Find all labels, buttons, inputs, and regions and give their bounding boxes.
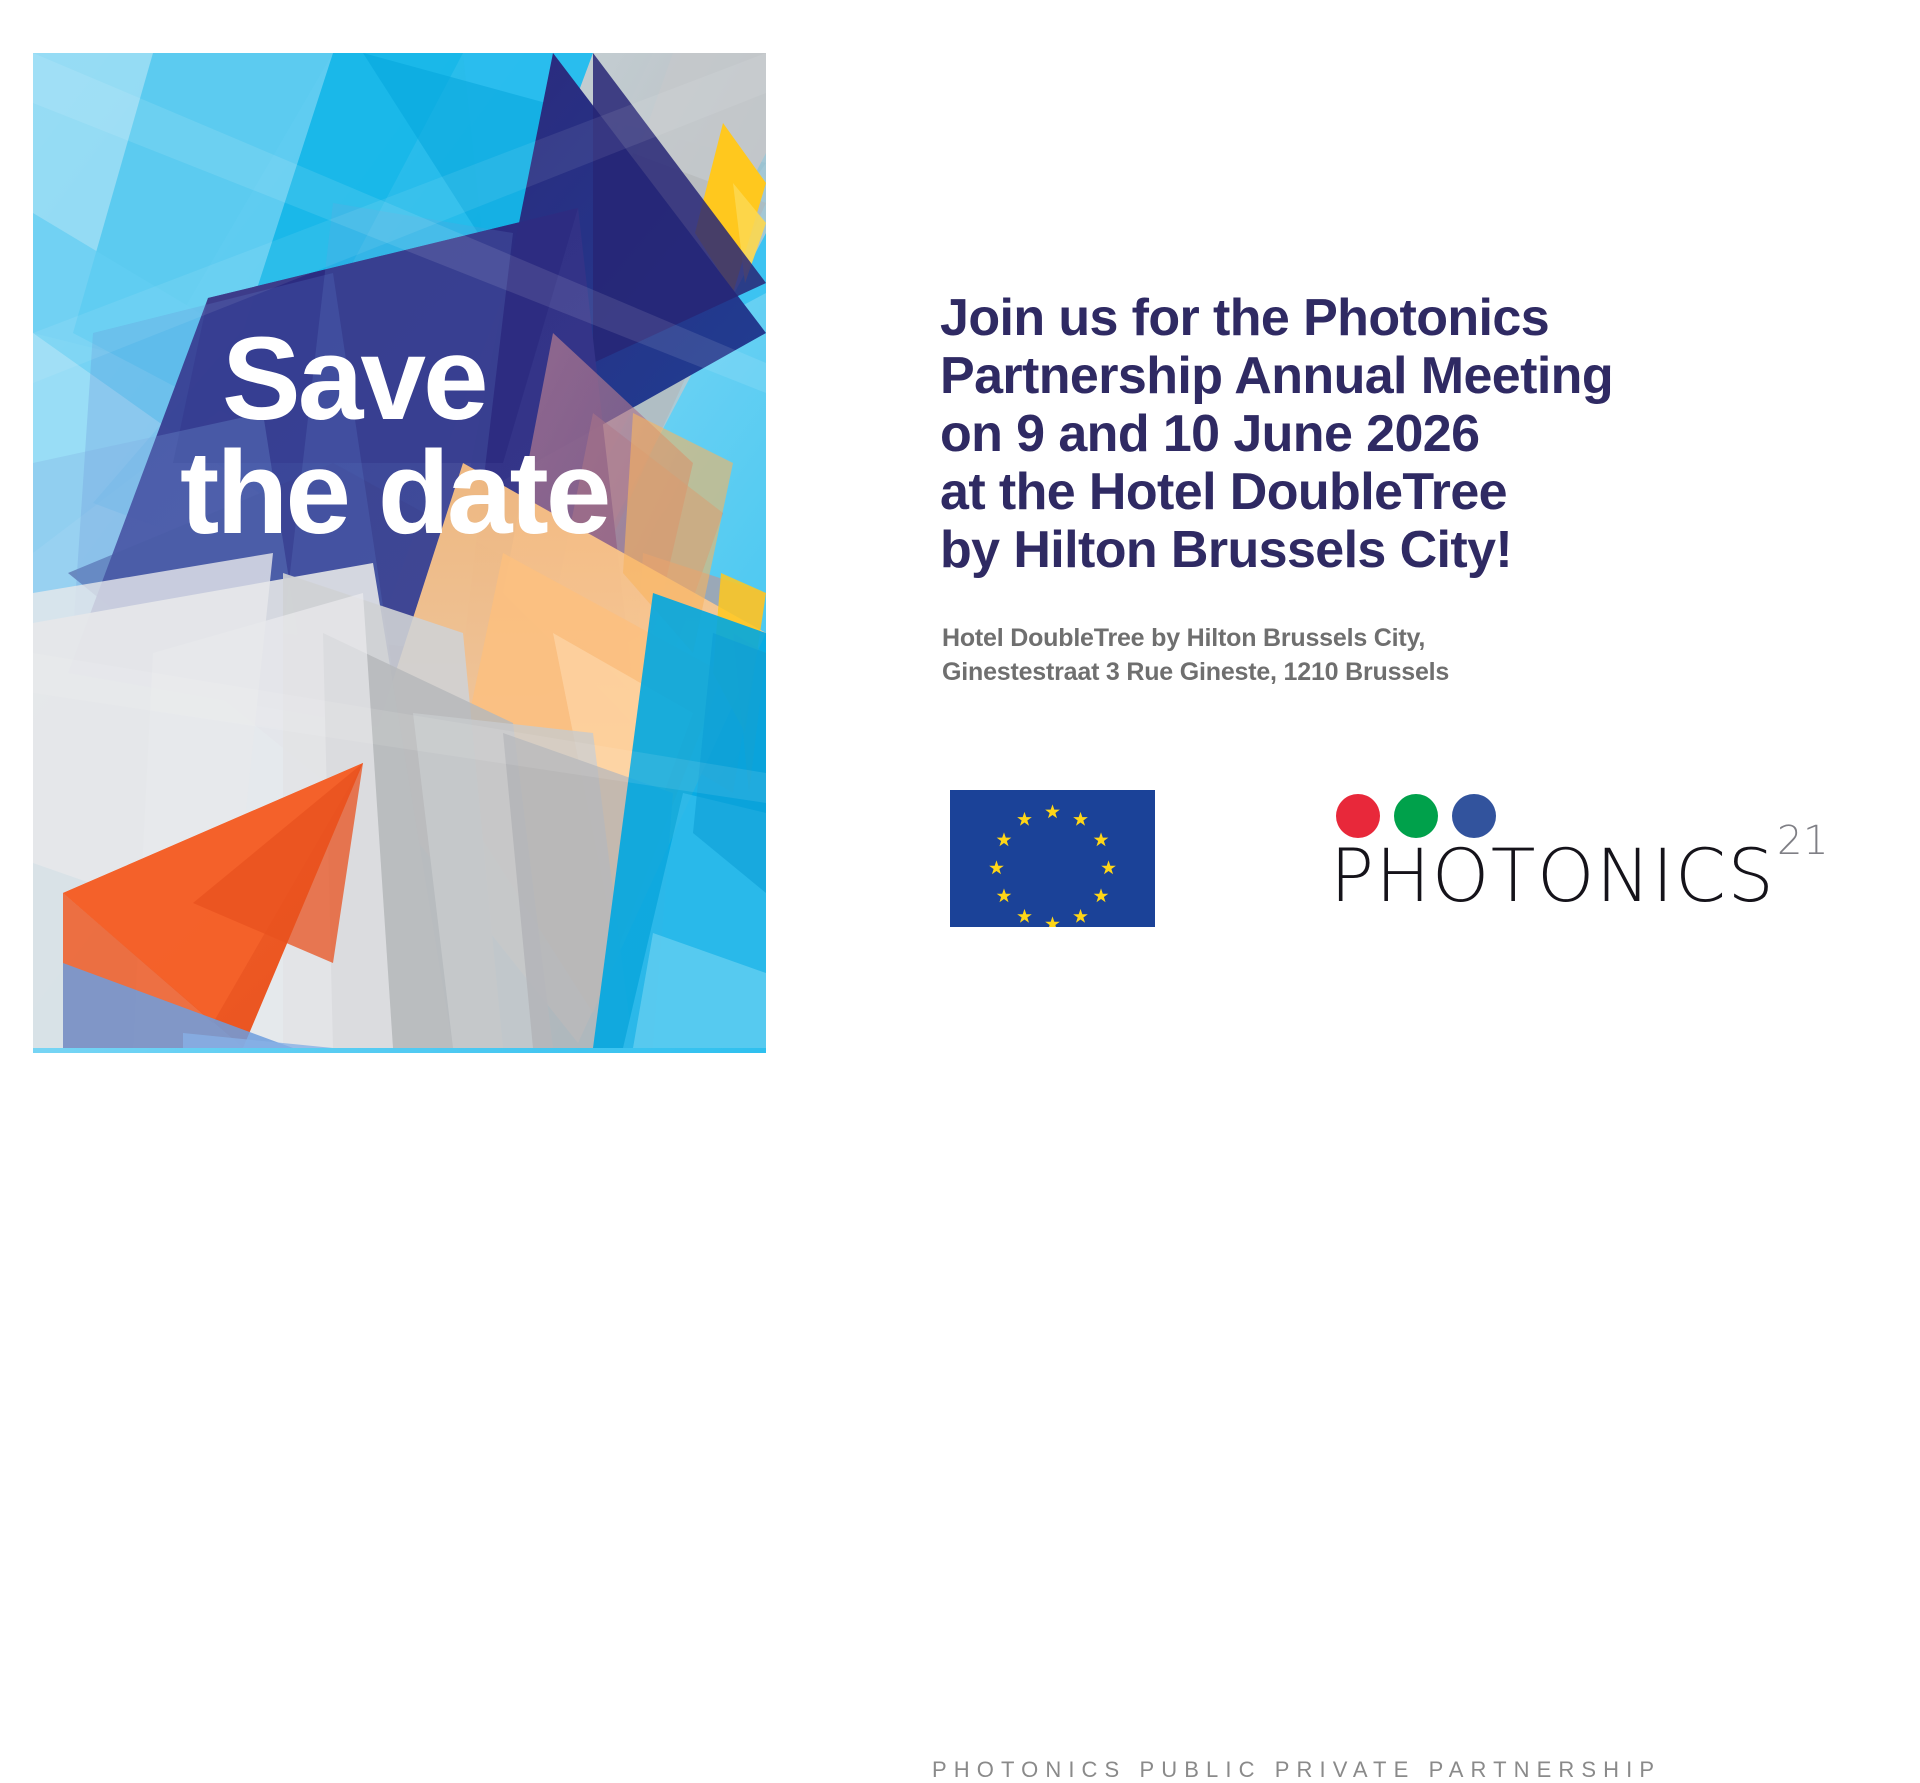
european-union-flag-icon bbox=[950, 790, 1155, 927]
photonics-wordmark: PHOTONICS bbox=[1330, 840, 1775, 913]
photonics-dot-red bbox=[1336, 794, 1380, 838]
headline-line-3: on 9 and 10 June 2026 bbox=[940, 406, 1700, 464]
venue-address: Hotel DoubleTree by Hilton Brussels City… bbox=[942, 622, 1449, 690]
event-headline: Join us for the Photonics Partnership An… bbox=[940, 290, 1700, 580]
partnership-tagline: PHOTONICS PUBLIC PRIVATE PARTNERSHIP bbox=[932, 1757, 1661, 1783]
headline-line-1: Join us for the Photonics bbox=[940, 290, 1700, 348]
artwork-svg bbox=[33, 33, 766, 1068]
photonics-dot-green bbox=[1394, 794, 1438, 838]
photonics-dot-blue bbox=[1452, 794, 1496, 838]
right-content-panel: Join us for the Photonics Partnership An… bbox=[940, 0, 1920, 1099]
headline-line-5: by Hilton Brussels City! bbox=[940, 522, 1700, 580]
photonics-superscript-21: 21 bbox=[1777, 818, 1829, 864]
address-line-1: Hotel DoubleTree by Hilton Brussels City… bbox=[942, 622, 1449, 656]
headline-line-4: at the Hotel DoubleTree bbox=[940, 464, 1700, 522]
headline-line-2: Partnership Annual Meeting bbox=[940, 348, 1700, 406]
poster-root: Save the date Join us for the Photonics … bbox=[0, 0, 1920, 1099]
address-line-2: Ginestestraat 3 Rue Gineste, 1210 Brusse… bbox=[942, 656, 1449, 690]
photonics-rgb-dots bbox=[1336, 794, 1496, 838]
geometric-artwork-panel: Save the date bbox=[33, 33, 766, 1068]
logo-row: PHOTONICS 21 PHOTONICS PUBLIC PRIVATE PA… bbox=[940, 790, 1840, 925]
eu-flag-svg bbox=[950, 790, 1155, 927]
photonics21-logo: PHOTONICS 21 bbox=[1330, 794, 1720, 924]
